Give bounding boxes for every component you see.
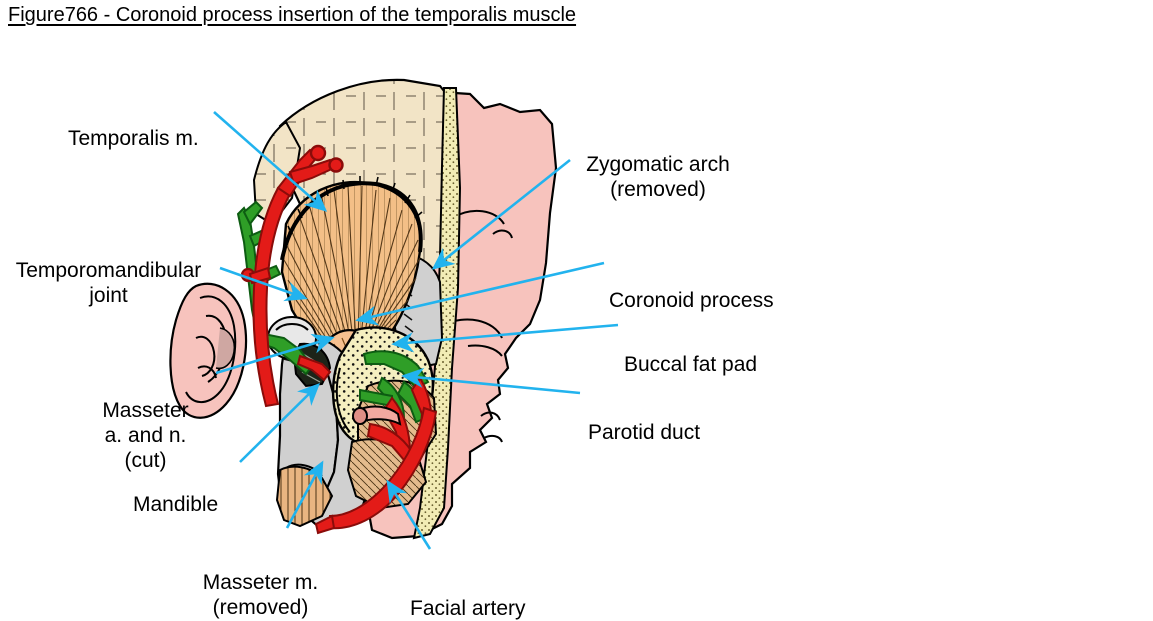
label-masseter-m-line1: Masseter m. [188,570,333,595]
label-temporomandibular-joint: Temporomandibular joint [6,258,211,308]
label-zygomatic-line1: Zygomatic arch [578,152,738,177]
label-masseter-m-line2: (removed) [188,595,333,620]
label-temporalis-text: Temporalis m. [68,126,199,151]
illustration-stage: Temporalis m. Temporomandibular joint Ma… [0,38,1153,600]
label-zygomatic-line2: (removed) [578,177,738,202]
label-parotid-duct: Parotid duct [588,420,700,445]
label-masseter-muscle: Masseter m. (removed) [188,570,333,620]
label-temporalis-muscle: Temporalis m. [68,126,199,151]
label-buccal-text: Buccal fat pad [624,352,757,377]
label-buccal-fat-pad: Buccal fat pad [624,352,757,377]
label-masseter-an-line2: a. and n. [78,423,213,448]
label-coronoid-text: Coronoid process [609,288,774,313]
label-tmj-line2: joint [6,283,211,308]
label-coronoid-process: Coronoid process [609,288,774,313]
label-masseter-an-line3: (cut) [78,448,213,473]
label-mandible: Mandible [133,492,218,517]
label-tmj-line1: Temporomandibular [6,258,211,283]
page-title: Figure766 - Coronoid process insertion o… [8,4,576,27]
label-masseter-artery-nerve: Masseter a. and n. (cut) [78,398,213,473]
label-parotid-text: Parotid duct [588,420,700,445]
label-zygomatic-arch: Zygomatic arch (removed) [578,152,738,202]
figure-page: Figure766 - Coronoid process insertion o… [0,0,1153,600]
label-mandible-text: Mandible [133,492,218,517]
label-masseter-an-line1: Masseter [78,398,213,423]
